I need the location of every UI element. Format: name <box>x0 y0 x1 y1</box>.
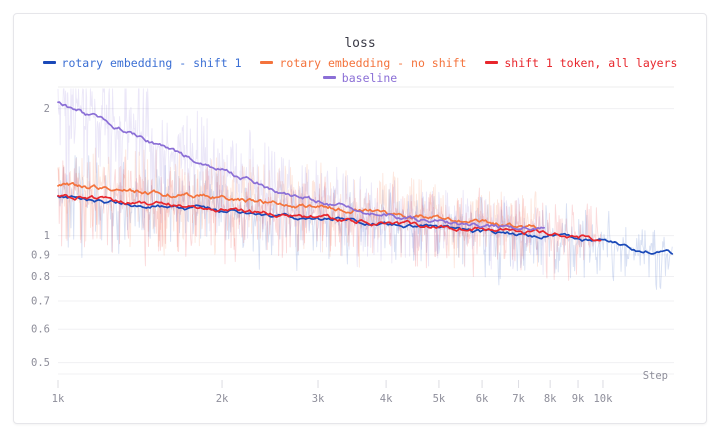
x-axis-tick-label: 7k <box>512 393 525 405</box>
y-axis-tick-label: 0.7 <box>31 295 50 307</box>
x-axis-ticks: 1k2k3k4k5k6k7k8k9k10k <box>52 380 613 405</box>
chart-svg[interactable]: 210.90.80.70.60.5 1k2k3k4k5k6k7k8k9k10k … <box>14 14 708 425</box>
raw-traces <box>58 89 672 290</box>
y-axis-tick-label: 0.9 <box>31 249 50 261</box>
x-axis-title: Step <box>643 370 668 382</box>
x-axis-tick-label: 8k <box>544 393 557 405</box>
x-axis-tick-label: 4k <box>380 393 393 405</box>
y-axis-tick-label: 0.5 <box>31 357 50 369</box>
chart-card: loss rotary embedding - shift 1 rotary e… <box>13 13 707 424</box>
x-axis-tick-label: 3k <box>312 393 325 405</box>
y-axis-tick-label: 0.8 <box>31 271 50 283</box>
x-axis-tick-label: 9k <box>572 393 585 405</box>
x-axis-tick-label: 5k <box>433 393 446 405</box>
x-axis-tick-label: 10k <box>593 393 613 405</box>
x-axis-tick-label: 1k <box>52 393 65 405</box>
y-axis-tick-label: 0.6 <box>31 324 50 336</box>
plot-area[interactable]: 210.90.80.70.60.5 1k2k3k4k5k6k7k8k9k10k … <box>14 14 708 425</box>
y-axis-tick-label: 1 <box>44 230 50 242</box>
y-axis-ticks: 210.90.80.70.60.5 <box>31 103 50 369</box>
y-axis-tick-label: 2 <box>44 103 50 115</box>
x-axis-tick-label: 2k <box>216 393 229 405</box>
x-axis-tick-label: 6k <box>476 393 489 405</box>
x-axis-title-label: Step <box>643 370 668 382</box>
